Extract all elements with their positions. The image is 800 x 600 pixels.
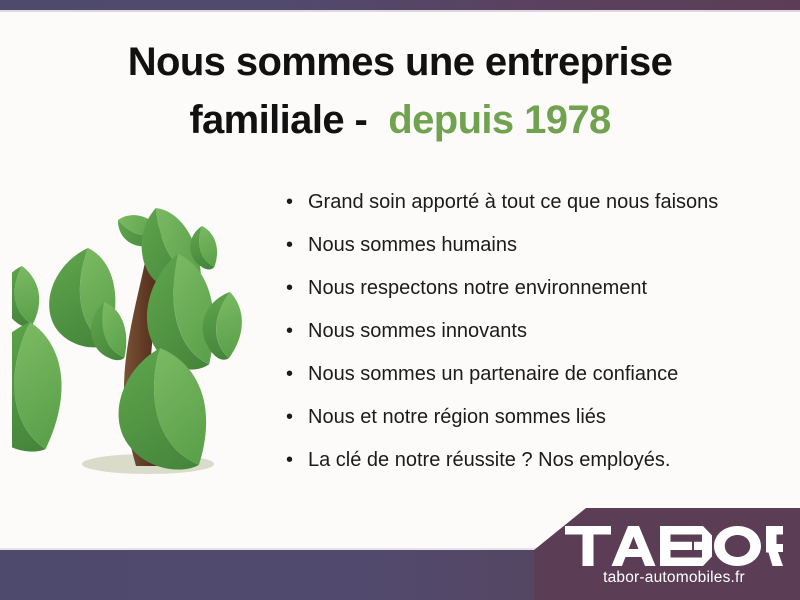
headline-line-2: familiale - depuis 1978 [0,92,800,150]
list-item: • Nous respectons notre environnement [286,278,786,321]
list-item: • Nous et notre région sommes liés [286,407,786,450]
bullet-marker-icon: • [286,235,308,255]
top-hairline-divider [0,10,800,12]
tree-illustration [12,182,284,482]
list-item-label: Nous respectons notre environnement [308,278,647,298]
list-item: • Grand soin apporté à tout ce que nous … [286,192,786,235]
headline-line-1: Nous sommes une entreprise [0,34,800,92]
list-item-label: Nous sommes humains [308,235,517,255]
bullet-marker-icon: • [286,321,308,341]
bullet-marker-icon: • [286,450,308,470]
bullet-marker-icon: • [286,407,308,427]
list-item-label: Nous sommes innovants [308,321,527,341]
page-title: Nous sommes une entreprise familiale - d… [0,34,800,149]
list-item-label: Grand soin apporté à tout ce que nous fa… [308,192,718,212]
list-item: • Nous sommes un partenaire de confiance [286,364,786,407]
tabor-wordmark-icon [565,526,783,566]
list-item-label: La clé de notre réussite ? Nos employés. [308,450,670,470]
list-item-label: Nous et notre région sommes liés [308,407,606,427]
list-item: • Nous sommes humains [286,235,786,278]
brand-website-url[interactable]: tabor-automobiles.fr [603,569,745,587]
top-accent-band [0,0,800,10]
bullet-marker-icon: • [286,278,308,298]
bullet-marker-icon: • [286,192,308,212]
bullet-marker-icon: • [286,364,308,384]
tree-leaf [12,263,56,331]
brand-logo-plate[interactable]: tabor-automobiles.fr [534,508,800,600]
slide-root: Nous sommes une entreprise familiale - d… [0,0,800,600]
list-item: • La clé de notre réussite ? Nos employé… [286,450,786,493]
list-item: • Nous sommes innovants [286,321,786,364]
headline-accent-since-1978: depuis 1978 [388,98,610,142]
value-proposition-list: • Grand soin apporté à tout ce que nous … [286,192,786,493]
list-item-label: Nous sommes un partenaire de confiance [308,364,678,384]
headline-line-2-prefix: familiale - [189,98,388,142]
